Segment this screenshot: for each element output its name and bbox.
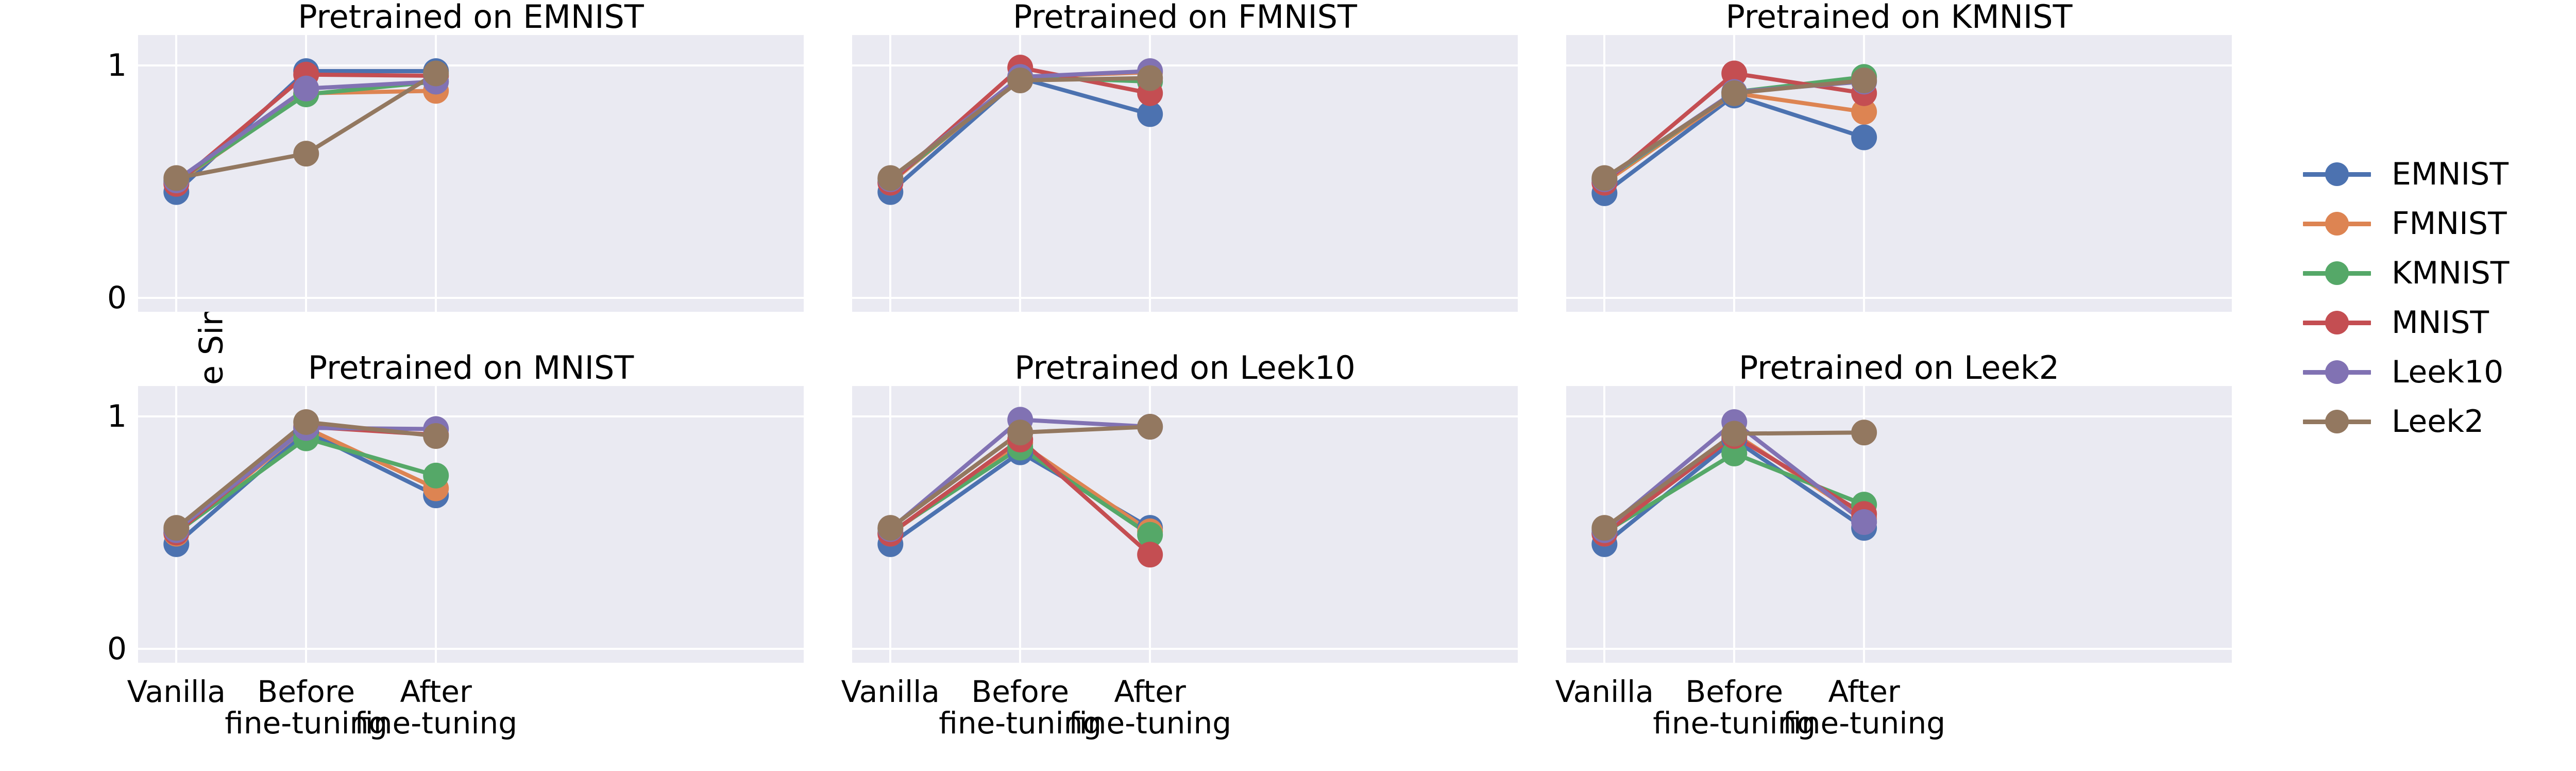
- data-point-leek2: [1137, 65, 1163, 91]
- x-tick-line1: Vanilla: [1555, 676, 1654, 708]
- subplot-mnist: Pretrained on MNIST01VanillaBeforefine-t…: [138, 386, 804, 663]
- data-point-kmnist: [423, 463, 449, 489]
- plot-area: 01: [138, 35, 804, 312]
- data-point-leek2: [163, 515, 189, 541]
- data-point-leek2: [1721, 80, 1747, 106]
- legend-marker-icon: [2303, 363, 2371, 381]
- legend-label: MNIST: [2392, 305, 2489, 341]
- x-tick-line1: After: [354, 676, 517, 708]
- subplot-title: Pretrained on Leek2: [1566, 349, 2232, 387]
- series-line-emnist: [890, 78, 1150, 192]
- subplot-title: Pretrained on EMNIST: [138, 0, 804, 36]
- plot-area: VanillaBeforefine-tuningAfterfine-tuning: [1566, 386, 2232, 663]
- data-point-leek2: [1851, 68, 1877, 93]
- data-point-leek10: [293, 76, 319, 102]
- data-point-leek2: [1591, 515, 1617, 541]
- legend-marker-icon: [2303, 214, 2371, 233]
- series-layer: [852, 386, 1518, 663]
- legend-marker-icon: [2303, 264, 2371, 282]
- data-point-emnist: [1851, 125, 1877, 150]
- legend-item-mnist[interactable]: MNIST: [2303, 298, 2509, 347]
- data-point-leek2: [293, 141, 319, 166]
- subplot-leek10: Pretrained on Leek10VanillaBeforefine-tu…: [852, 386, 1518, 663]
- plot-area: VanillaBeforefine-tuningAfterfine-tuning: [852, 386, 1518, 663]
- legend-item-emnist[interactable]: EMNIST: [2303, 149, 2509, 199]
- x-tick-label: Afterfine-tuning: [354, 676, 517, 739]
- x-tick-label: Afterfine-tuning: [1069, 676, 1231, 739]
- subplot-emnist: Pretrained on EMNIST01: [138, 35, 804, 312]
- series-layer: [138, 386, 804, 663]
- x-tick-line2: fine-tuning: [354, 708, 517, 739]
- data-point-leek2: [1137, 414, 1163, 440]
- data-point-leek2: [293, 409, 319, 435]
- data-point-leek2: [1007, 420, 1033, 445]
- data-point-leek2: [1851, 420, 1877, 445]
- plot-area: [1566, 35, 2232, 312]
- series-layer: [852, 35, 1518, 312]
- x-tick-line2: fine-tuning: [1069, 708, 1231, 739]
- x-tick-label: Vanilla: [1555, 676, 1654, 708]
- series-line-kmnist: [176, 439, 436, 533]
- x-tick-line1: Vanilla: [841, 676, 940, 708]
- x-tick-line1: After: [1783, 676, 1945, 708]
- legend-label: Leek10: [2392, 354, 2503, 390]
- data-point-mnist: [1137, 542, 1163, 567]
- x-tick-line2: fine-tuning: [1783, 708, 1945, 739]
- x-tick-label: Vanilla: [127, 676, 226, 708]
- legend-label: EMNIST: [2392, 156, 2509, 192]
- data-point-leek2: [1591, 165, 1617, 191]
- data-point-leek10: [1851, 509, 1877, 535]
- legend-label: KMNIST: [2392, 255, 2509, 291]
- y-tick-label: 1: [107, 398, 127, 434]
- subplot-kmnist: Pretrained on KMNIST: [1566, 35, 2232, 312]
- legend-item-leek2[interactable]: Leek2: [2303, 397, 2509, 446]
- legend: EMNISTFMNISTKMNISTMNISTLeek10Leek2: [2303, 149, 2509, 446]
- legend-item-kmnist[interactable]: KMNIST: [2303, 248, 2509, 298]
- legend-marker-icon: [2303, 412, 2371, 431]
- series-layer: [138, 35, 804, 312]
- y-tick-label: 1: [107, 47, 127, 83]
- data-point-leek2: [877, 165, 903, 191]
- x-tick-line1: Vanilla: [127, 676, 226, 708]
- series-layer: [1566, 386, 2232, 663]
- data-point-leek2: [423, 423, 449, 449]
- data-point-leek2: [877, 515, 903, 541]
- subplot-title: Pretrained on FMNIST: [852, 0, 1518, 36]
- plot-area: 01VanillaBeforefine-tuningAfterfine-tuni…: [138, 386, 804, 663]
- data-point-leek2: [163, 165, 189, 191]
- legend-marker-icon: [2303, 313, 2371, 332]
- data-point-leek2: [1007, 68, 1033, 93]
- plot-area: [852, 35, 1518, 312]
- subplot-title: Pretrained on KMNIST: [1566, 0, 2232, 36]
- x-tick-label: Vanilla: [841, 676, 940, 708]
- data-point-leek2: [1721, 421, 1747, 447]
- y-tick-label: 0: [107, 280, 127, 316]
- x-tick-line1: After: [1069, 676, 1231, 708]
- legend-item-leek10[interactable]: Leek10: [2303, 347, 2509, 397]
- subplot-title: Pretrained on Leek10: [852, 349, 1518, 387]
- subplot-leek2: Pretrained on Leek2VanillaBeforefine-tun…: [1566, 386, 2232, 663]
- y-tick-label: 0: [107, 631, 127, 667]
- legend-item-fmnist[interactable]: FMNIST: [2303, 199, 2509, 248]
- figure-canvas: Cosine Similarity Pretrained on EMNIST01…: [0, 0, 2576, 771]
- data-point-leek2: [423, 60, 449, 86]
- legend-label: FMNIST: [2392, 206, 2507, 242]
- x-tick-label: Afterfine-tuning: [1783, 676, 1945, 739]
- series-layer: [1566, 35, 2232, 312]
- legend-marker-icon: [2303, 165, 2371, 183]
- subplot-fmnist: Pretrained on FMNIST: [852, 35, 1518, 312]
- subplot-title: Pretrained on MNIST: [138, 349, 804, 387]
- legend-label: Leek2: [2392, 404, 2484, 440]
- series-line-emnist: [1604, 95, 1864, 193]
